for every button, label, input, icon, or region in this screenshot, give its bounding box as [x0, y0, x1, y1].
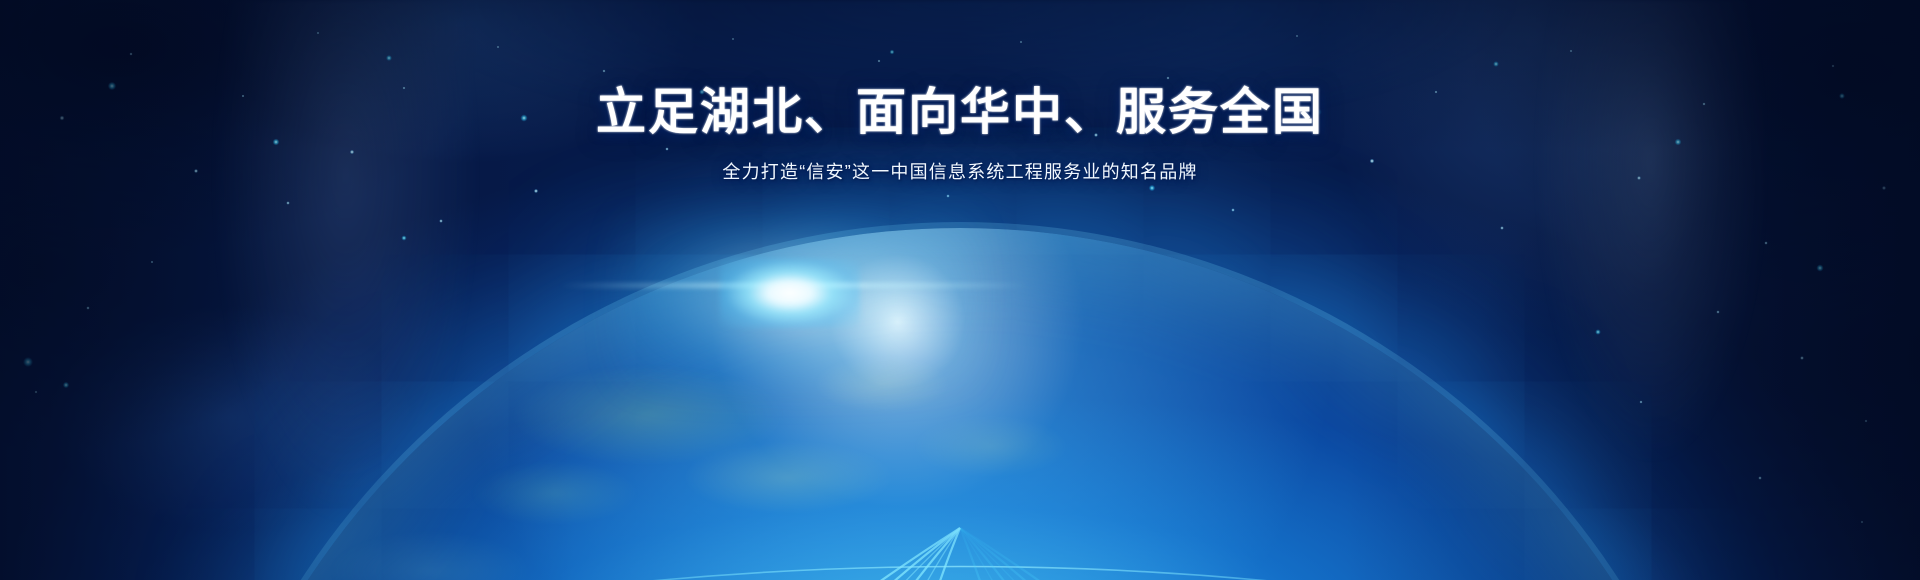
nebula-wisp-layer	[0, 0, 1920, 580]
globe-atmosphere	[174, 222, 1746, 580]
bottom-glow	[0, 280, 1920, 580]
hero-banner: 立足湖北、面向华中、服务全国 全力打造“信安”这一中国信息系统工程服务业的知名品…	[0, 0, 1920, 580]
edge-vignette	[0, 0, 1920, 580]
banner-copy: 立足湖北、面向华中、服务全国 全力打造“信安”这一中国信息系统工程服务业的知名品…	[0, 86, 1920, 184]
core-flare	[720, 258, 860, 328]
nebula-background-layer	[0, 0, 1920, 580]
globe-continents	[180, 228, 1740, 580]
banner-headline: 立足湖北、面向华中、服务全国	[0, 86, 1920, 139]
globe-network-lines	[180, 228, 1740, 580]
starfield	[0, 0, 1920, 580]
banner-subline: 全力打造“信安”这一中国信息系统工程服务业的知名品牌	[0, 158, 1920, 184]
core-light-streak	[560, 283, 1030, 288]
core-flare-halo	[618, 210, 978, 390]
network-globe	[180, 228, 1740, 580]
globe-sphere	[180, 228, 1740, 580]
